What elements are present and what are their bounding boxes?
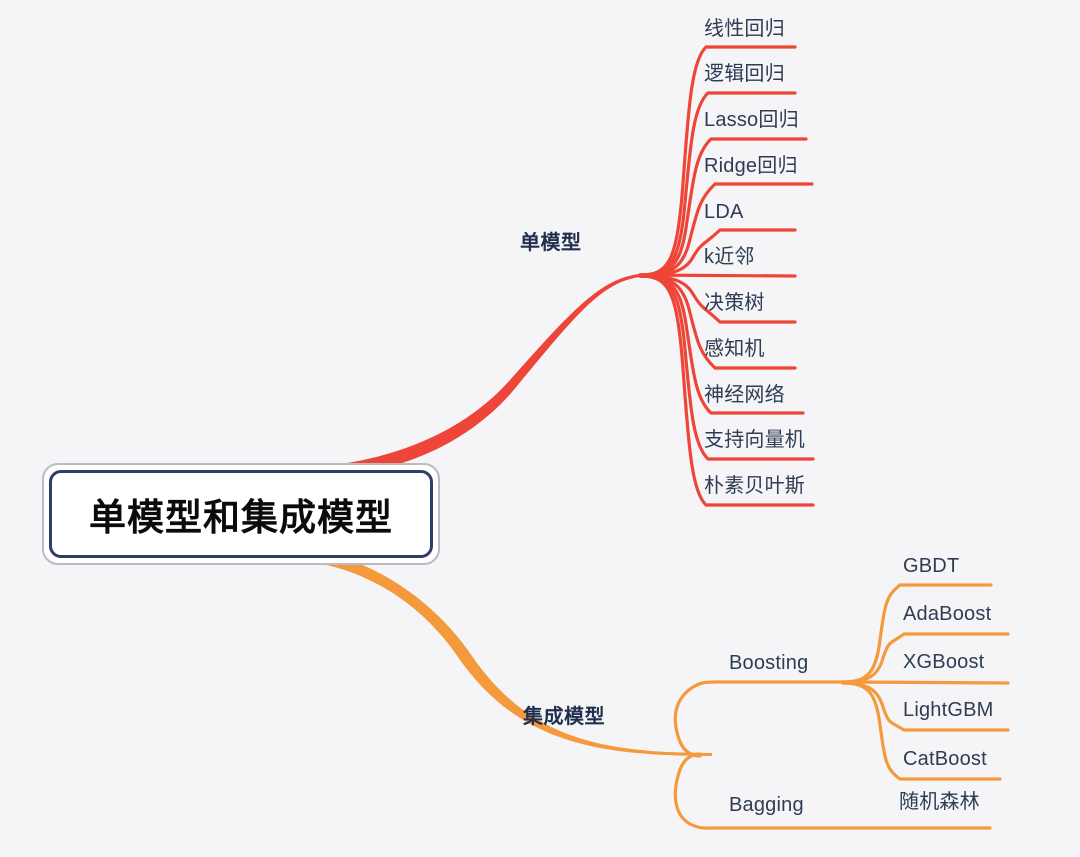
root-node[interactable]: 单模型和集成模型 [42,463,440,565]
edge-to-boosting [675,682,843,756]
branch-label-single-model[interactable]: 单模型 [520,233,582,253]
leaf-label-xgboost[interactable]: XGBoost [903,652,984,672]
edge-root-to-single-model [300,274,640,478]
leaf-label-logistic-regression[interactable]: 逻辑回归 [704,64,785,84]
leaf-label-perceptron[interactable]: 感知机 [704,339,765,359]
leaf-label-lightgbm[interactable]: LightGBM [903,700,994,720]
sub-branch-label-bagging[interactable]: Bagging [729,795,804,815]
leaf-label-lasso-regression[interactable]: Lasso回归 [704,110,799,130]
root-node-inner: 单模型和集成模型 [49,470,433,558]
leaf-label-knn[interactable]: k近邻 [704,247,755,267]
sub-branch-label-boosting[interactable]: Boosting [729,653,808,673]
leaf-label-linear-regression[interactable]: 线性回归 [704,19,785,39]
mindmap-edges [0,0,1080,857]
leaf-label-neural-network[interactable]: 神经网络 [704,385,785,405]
leaf-label-naive-bayes[interactable]: 朴素贝叶斯 [704,476,805,496]
leaf-label-gbdt[interactable]: GBDT [903,556,959,576]
branch-label-ensemble-model[interactable]: 集成模型 [523,707,605,727]
leaf-label-ridge-regression[interactable]: Ridge回归 [704,156,798,176]
leaf-label-decision-tree[interactable]: 决策树 [704,293,765,313]
leaf-label-lda[interactable]: LDA [704,202,744,222]
leaf-label-adaboost[interactable]: AdaBoost [903,604,991,624]
mindmap-canvas: 单模型和集成模型 单模型 集成模型 线性回归 逻辑回归 Lasso回归 Ridg… [0,0,1080,857]
root-node-label: 单模型和集成模型 [89,487,393,541]
leaf-label-svm[interactable]: 支持向量机 [704,430,805,450]
leaf-label-random-forest[interactable]: 随机森林 [899,792,980,812]
edge-root-to-ensemble-model [314,552,712,756]
leaf-label-catboost[interactable]: CatBoost [903,749,987,769]
